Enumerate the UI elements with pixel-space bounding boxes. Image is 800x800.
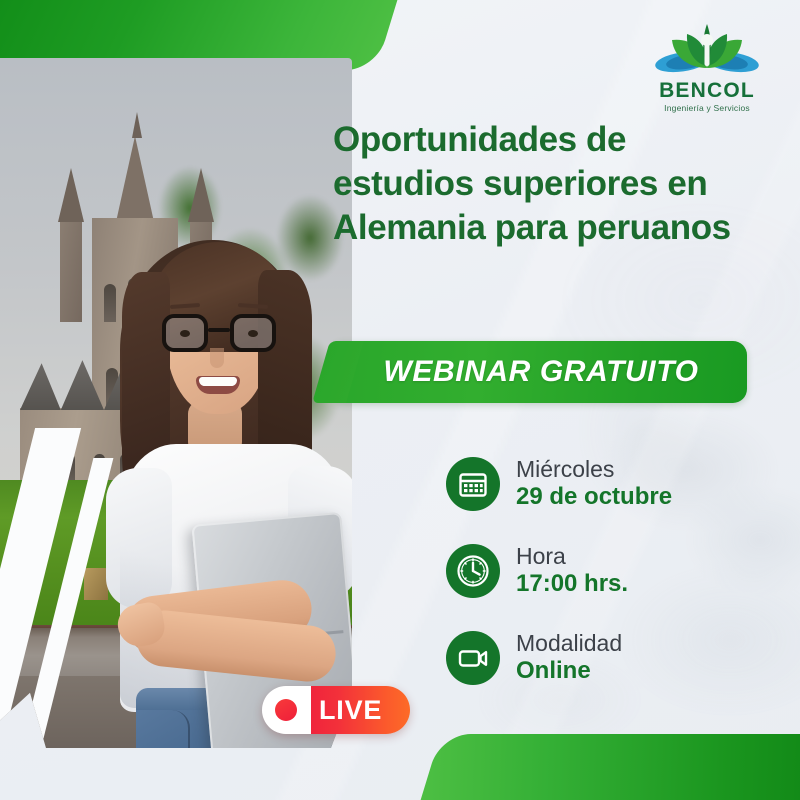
- student-figure: [92, 218, 352, 748]
- page-title: Oportunidades de estudios superiores en …: [333, 118, 758, 250]
- brand-logo[interactable]: BENCOL Ingeniería y Servicios: [642, 18, 772, 113]
- spire-finial: [132, 112, 142, 138]
- detail-value: 17:00 hrs.: [516, 570, 628, 597]
- student-photo: [0, 58, 352, 748]
- promo-poster: BENCOL Ingeniería y Servicios Oportunida…: [0, 0, 800, 800]
- eye: [180, 330, 190, 337]
- detail-label: Miércoles: [516, 456, 672, 482]
- smile: [196, 376, 240, 394]
- detail-text: Miércoles 29 de octubre: [516, 456, 672, 511]
- calendar-icon: [446, 457, 500, 511]
- brand-name: BENCOL: [642, 80, 772, 102]
- video-camera-icon: [446, 631, 500, 685]
- glasses-bridge: [208, 328, 230, 332]
- detail-row-time: Hora 17:00 hrs.: [446, 527, 766, 614]
- detail-value: Online: [516, 657, 622, 684]
- leaf-plant-logo-icon: [642, 18, 772, 82]
- event-details: Miércoles 29 de octubre: [446, 440, 766, 701]
- bottom-green-band: [420, 734, 800, 800]
- turret: [60, 218, 82, 322]
- teeth: [199, 377, 237, 386]
- detail-text: Modalidad Online: [516, 630, 622, 685]
- webinar-banner-label: WEBINAR GRATUITO: [383, 355, 698, 389]
- detail-row-date: Miércoles 29 de octubre: [446, 440, 766, 527]
- detail-label: Hora: [516, 543, 628, 569]
- eye: [248, 330, 258, 337]
- webinar-banner: WEBINAR GRATUITO: [335, 341, 747, 403]
- clock-icon: [446, 544, 500, 598]
- eyeglasses-icon: [160, 314, 278, 354]
- detail-value: 29 de octubre: [516, 483, 672, 510]
- brand-tagline: Ingeniería y Servicios: [642, 103, 772, 113]
- status-badge: LIVE: [262, 686, 410, 734]
- detail-text: Hora 17:00 hrs.: [516, 543, 628, 598]
- status-badge-label: LIVE: [319, 695, 382, 726]
- jeans-seam: [156, 710, 190, 748]
- detail-row-modality: Modalidad Online: [446, 614, 766, 701]
- record-dot-icon: [275, 699, 297, 721]
- detail-label: Modalidad: [516, 630, 622, 656]
- spire: [116, 136, 154, 222]
